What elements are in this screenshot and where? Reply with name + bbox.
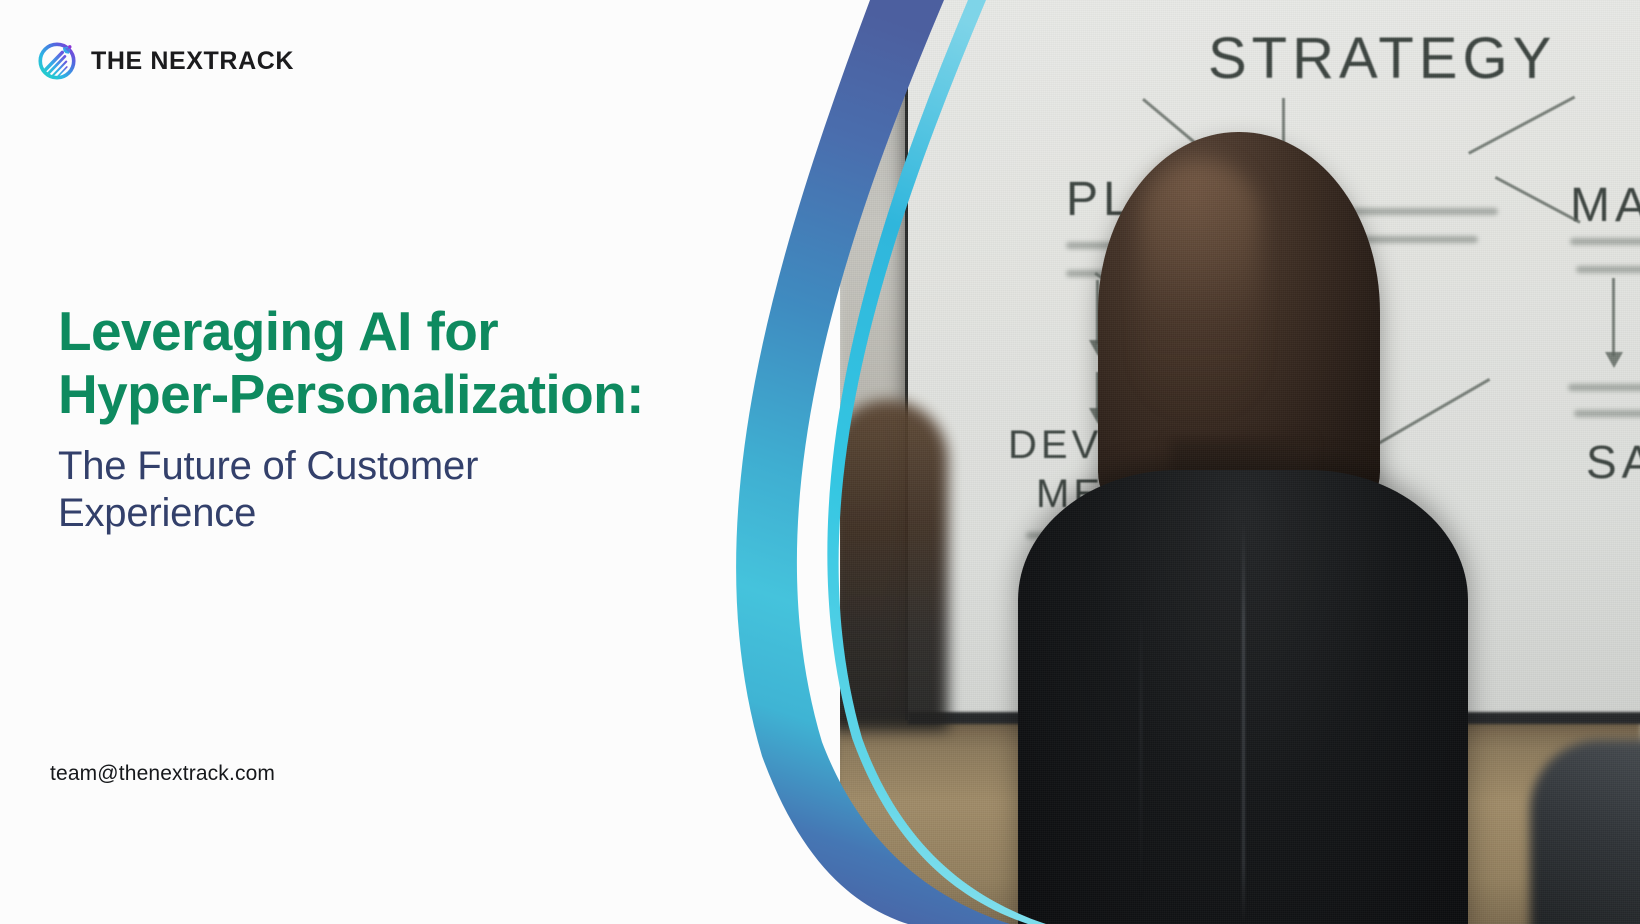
brand-lockup[interactable]: THE NEXTRACK bbox=[36, 40, 294, 82]
foreground-person-right bbox=[1530, 740, 1640, 924]
slide-canvas: STRATEGY PLAN MAR DEVEOP- MENT SA bbox=[0, 0, 1640, 924]
person-figure bbox=[840, 0, 1640, 924]
hero-text-block: Leveraging AI for Hyper-Personalization:… bbox=[58, 300, 758, 536]
hero-photo: STRATEGY PLAN MAR DEVEOP- MENT SA bbox=[840, 0, 1640, 924]
photo-background: STRATEGY PLAN MAR DEVEOP- MENT SA bbox=[840, 0, 1640, 924]
brand-wordmark: THE NEXTRACK bbox=[91, 49, 294, 74]
background-person bbox=[840, 400, 948, 730]
blazer-side-seam bbox=[1140, 600, 1142, 900]
blazer-center-seam bbox=[1242, 520, 1245, 924]
contact-email[interactable]: team@thenextrack.com bbox=[50, 762, 275, 786]
page-subtitle: The Future of Customer Experience bbox=[58, 443, 758, 536]
person-hair-highlight bbox=[1140, 160, 1260, 420]
page-title: Leveraging AI for Hyper-Personalization: bbox=[58, 300, 758, 425]
rocket-circle-logo-icon bbox=[36, 40, 78, 82]
